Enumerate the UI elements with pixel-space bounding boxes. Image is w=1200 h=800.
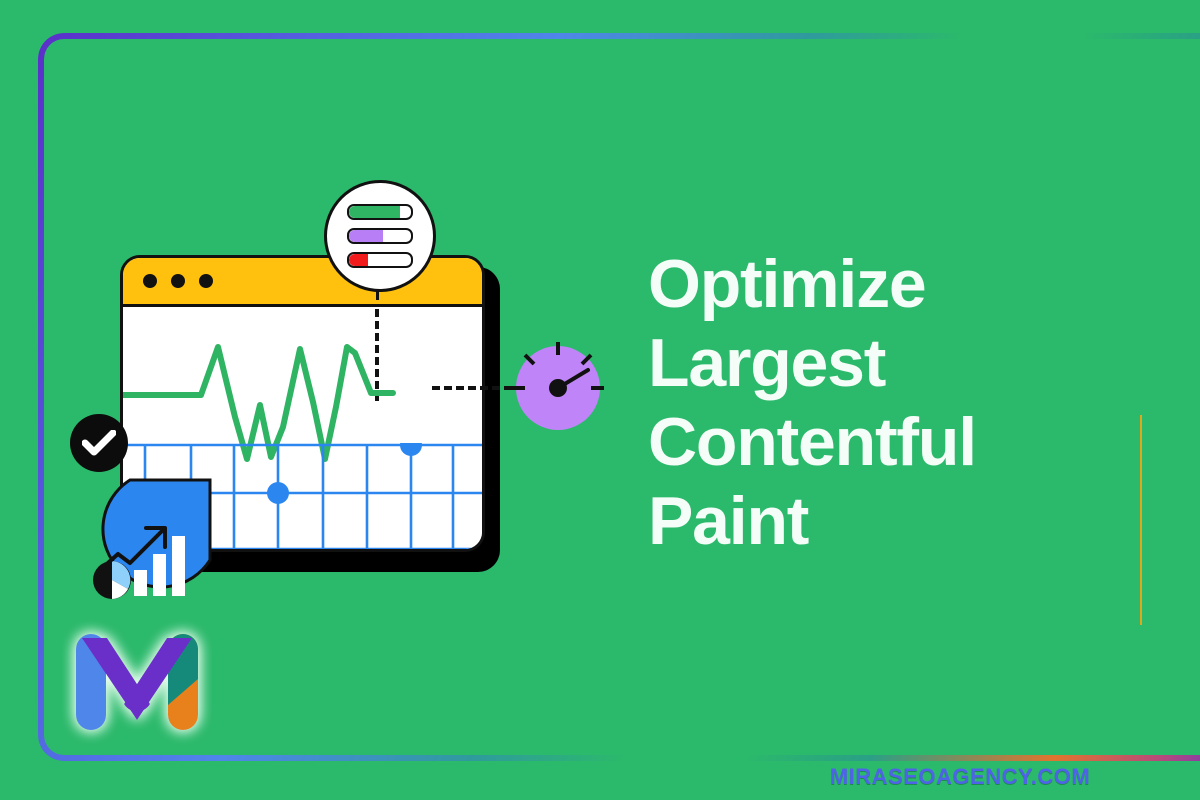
check-badge <box>70 414 128 472</box>
dashed-connector-horizontal-icon <box>432 386 524 390</box>
slider-purple <box>347 228 413 244</box>
poster-canvas: Optimize Largest Contentful Paint <box>0 0 1200 800</box>
page-title: Optimize Largest Contentful Paint <box>648 245 1088 561</box>
traffic-light-dot-icon <box>171 274 185 288</box>
speed-gauge-icon <box>512 342 604 434</box>
gold-accent-rule <box>1140 415 1142 625</box>
browser-titlebar <box>123 258 482 307</box>
grid-data-point <box>400 443 422 456</box>
slider-red <box>347 252 413 268</box>
headline-line-2: Largest <box>648 324 1088 403</box>
performance-sliders-badge <box>324 180 436 292</box>
pie-chart-icon <box>93 561 131 599</box>
watermark: MIRASEOAGENCY.COM <box>0 764 1200 790</box>
grid-data-point <box>267 482 289 504</box>
check-icon <box>82 430 116 456</box>
analytics-teardrop-badge <box>66 474 216 624</box>
watermark-text: MIRASEOAGENCY.COM <box>110 764 1090 789</box>
slider-green <box>347 204 413 220</box>
mira-m-logo <box>62 612 212 752</box>
headline-line-4: Paint <box>648 482 1088 561</box>
traffic-light-dot-icon <box>199 274 213 288</box>
traffic-light-dot-icon <box>143 274 157 288</box>
headline-line-3: Contentful <box>648 403 1088 482</box>
headline-line-1: Optimize <box>648 245 1088 324</box>
